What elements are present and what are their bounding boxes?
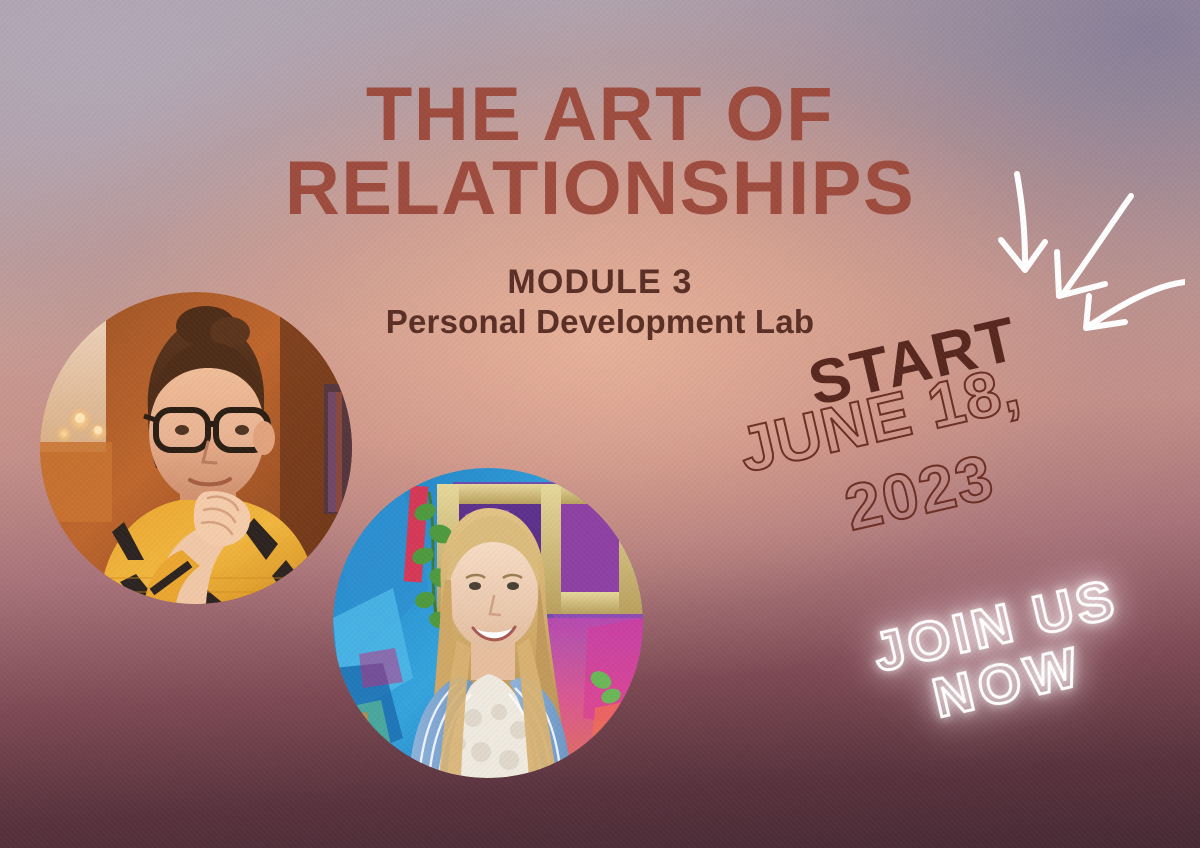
arrow-doodles <box>985 160 1185 335</box>
portrait-woman-with-glasses <box>40 292 352 604</box>
start-date-block: START JUNE 18, 2023 <box>710 345 1130 565</box>
poster-canvas: THE ART OF RELATIONSHIPS MODULE 3 Person… <box>0 0 1200 848</box>
arrow-down-icon <box>1017 174 1025 264</box>
portrait-right-image <box>333 468 643 778</box>
headline-line-1: THE ART OF <box>0 78 1200 152</box>
arrow-doodle-group <box>985 160 1185 335</box>
join-us-now-cta[interactable]: JOIN US NOW <box>838 563 1176 789</box>
portrait-left-image <box>40 292 352 604</box>
arrow-curved-icon <box>1089 282 1185 326</box>
arrow-diagonal-icon <box>1063 196 1131 294</box>
portrait-blonde-woman <box>333 468 643 778</box>
